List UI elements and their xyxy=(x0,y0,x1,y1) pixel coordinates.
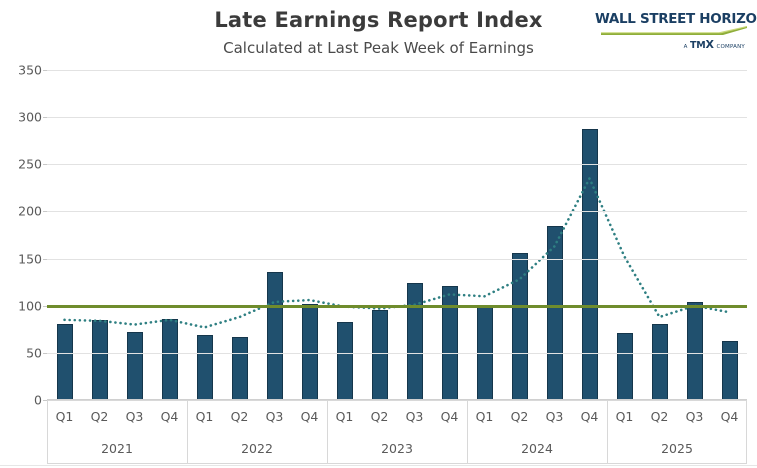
gridline xyxy=(47,164,747,165)
bar[interactable] xyxy=(372,310,388,401)
gridline xyxy=(47,70,747,71)
bar[interactable] xyxy=(512,253,528,400)
y-axis-labels: 050100150200250300350 xyxy=(0,70,42,400)
x-axis-quarter-label: Q2 xyxy=(502,400,537,432)
bar[interactable] xyxy=(442,286,458,400)
bar[interactable] xyxy=(232,337,248,400)
bar[interactable] xyxy=(617,333,633,400)
quarter-label-row: Q1Q2Q3Q4Q1Q2Q3Q4Q1Q2Q3Q4Q1Q2Q3Q4Q1Q2Q3Q4 xyxy=(47,400,747,432)
x-axis-group-separator xyxy=(467,400,468,464)
logo-tagline-mark: X xyxy=(706,38,714,51)
x-axis-quarter-label: Q1 xyxy=(327,400,362,432)
x-axis-quarter-label: Q3 xyxy=(677,400,712,432)
bar[interactable] xyxy=(687,302,703,400)
bar-series xyxy=(47,70,747,400)
logo-swoosh-icon xyxy=(601,26,747,35)
reference-line-100 xyxy=(47,305,747,308)
bar[interactable] xyxy=(267,272,283,400)
bar[interactable] xyxy=(722,341,738,400)
x-axis-quarter-label: Q2 xyxy=(362,400,397,432)
logo-tmx-tagline: A TMX COMPANY xyxy=(684,38,745,51)
gridline xyxy=(47,353,747,354)
x-axis-quarter-label: Q4 xyxy=(292,400,327,432)
y-axis-tick-label: 300 xyxy=(0,110,42,125)
bar[interactable] xyxy=(337,322,353,400)
x-axis-year-label: 2024 xyxy=(467,432,607,464)
bar[interactable] xyxy=(407,283,423,400)
y-axis-tick-mark xyxy=(43,306,47,307)
x-axis-quarter-label: Q2 xyxy=(642,400,677,432)
y-axis-tick-mark xyxy=(43,400,47,401)
logo-tagline-brand: TM xyxy=(690,40,706,51)
y-axis-tick-label: 250 xyxy=(0,157,42,172)
y-axis-tick-mark xyxy=(43,117,47,118)
x-axis-quarter-label: Q1 xyxy=(187,400,222,432)
x-axis-quarter-label: Q4 xyxy=(152,400,187,432)
y-axis-tick-mark xyxy=(43,259,47,260)
y-axis-tick-mark xyxy=(43,211,47,212)
y-axis-tick-label: 100 xyxy=(0,298,42,313)
x-axis-quarter-label: Q3 xyxy=(257,400,292,432)
y-axis-tick-mark xyxy=(43,70,47,71)
bar[interactable] xyxy=(582,129,598,400)
bar[interactable] xyxy=(197,335,213,400)
logo-wordmark: WALL STREET HORIZON xyxy=(595,12,750,27)
x-axis-year-label: 2022 xyxy=(187,432,327,464)
bar[interactable] xyxy=(652,324,668,400)
bar[interactable] xyxy=(162,319,178,400)
y-axis-tick-label: 150 xyxy=(0,251,42,266)
late-earnings-report-index-chart: Late Earnings Report Index Calculated at… xyxy=(0,0,757,468)
gridline xyxy=(47,117,747,118)
x-axis: Q1Q2Q3Q4Q1Q2Q3Q4Q1Q2Q3Q4Q1Q2Q3Q4Q1Q2Q3Q4… xyxy=(47,400,747,464)
x-axis-group-separator xyxy=(187,400,188,464)
y-axis-tick-mark xyxy=(43,353,47,354)
bar[interactable] xyxy=(57,324,73,400)
x-axis-quarter-label: Q1 xyxy=(467,400,502,432)
bar[interactable] xyxy=(547,226,563,400)
x-axis-year-label: 2025 xyxy=(607,432,747,464)
y-axis-tick-label: 0 xyxy=(0,393,42,408)
x-axis-group-separator xyxy=(327,400,328,464)
year-label-row: 20212022202320242025 xyxy=(47,432,747,464)
x-axis-year-label: 2021 xyxy=(47,432,187,464)
logo-tagline-prefix: A xyxy=(684,44,688,50)
y-axis-tick-label: 200 xyxy=(0,204,42,219)
x-axis-group-separator xyxy=(47,400,48,464)
bar[interactable] xyxy=(92,320,108,400)
plot-area xyxy=(47,70,747,400)
wall-street-horizon-logo: WALL STREET HORIZON A TMX COMPANY xyxy=(595,10,747,54)
gridline xyxy=(47,259,747,260)
x-axis-quarter-label: Q1 xyxy=(47,400,82,432)
x-axis-quarter-label: Q4 xyxy=(572,400,607,432)
x-axis-quarter-label: Q3 xyxy=(397,400,432,432)
y-axis-tick-label: 50 xyxy=(0,345,42,360)
logo-tagline-suffix: COMPANY xyxy=(716,44,745,50)
y-axis-tick-label: 350 xyxy=(0,63,42,78)
x-axis-year-label: 2023 xyxy=(327,432,467,464)
x-axis-quarter-label: Q3 xyxy=(117,400,152,432)
x-axis-quarter-label: Q2 xyxy=(82,400,117,432)
bar[interactable] xyxy=(127,332,143,400)
x-axis-quarter-label: Q2 xyxy=(222,400,257,432)
x-axis-quarter-label: Q4 xyxy=(432,400,467,432)
x-axis-quarter-label: Q4 xyxy=(712,400,747,432)
footer-rule xyxy=(0,465,757,466)
x-axis-quarter-label: Q3 xyxy=(537,400,572,432)
x-axis-quarter-label: Q1 xyxy=(607,400,642,432)
x-axis-group-separator xyxy=(746,400,747,464)
x-axis-group-separator xyxy=(607,400,608,464)
gridline xyxy=(47,211,747,212)
y-axis-tick-mark xyxy=(43,164,47,165)
